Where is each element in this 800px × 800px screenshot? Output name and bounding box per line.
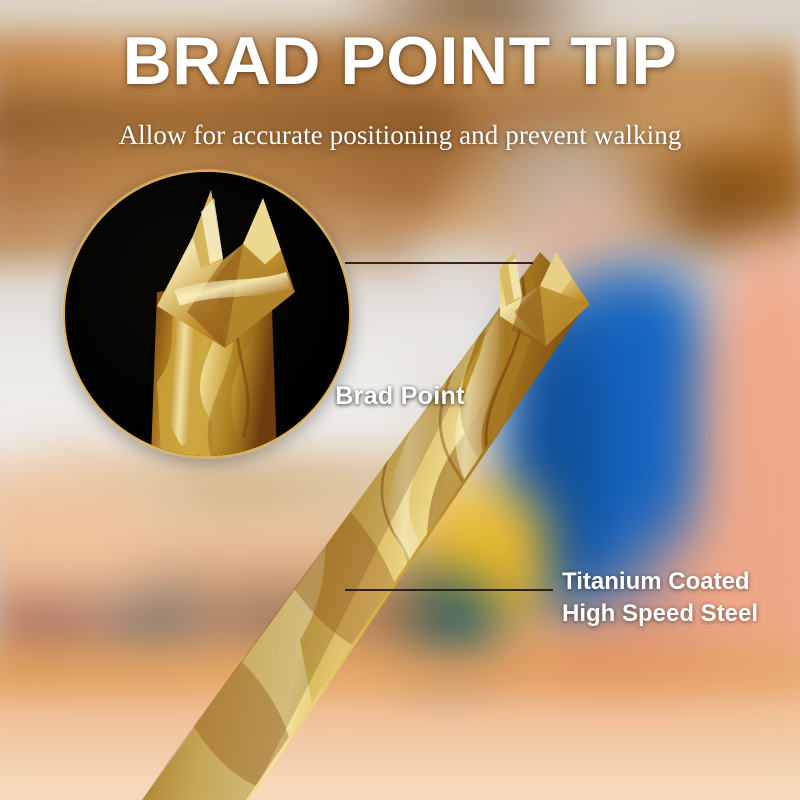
- leader-line-brad-point: [345, 262, 533, 264]
- callout-titanium-high-speed-steel: Titanium Coated High Speed Steel: [562, 566, 794, 629]
- workbench-top: [0, 648, 800, 706]
- callout-line-1: Titanium Coated: [562, 566, 794, 598]
- page-subtitle: Allow for accurate positioning and preve…: [0, 120, 800, 151]
- power-drill-highlight: [452, 498, 522, 560]
- tool-silhouette-1: [0, 586, 100, 656]
- magnifier-label-brad-point: Brad Point: [0, 382, 800, 411]
- product-marketing-image: BRAD POINT TIP Allow for accurate positi…: [0, 0, 800, 800]
- magnifier-inner: [65, 172, 349, 456]
- magnifier-inset-brad-point: [63, 170, 351, 458]
- page-title: BRAD POINT TIP: [0, 27, 800, 95]
- leader-line-titanium: [345, 589, 553, 591]
- callout-line-2: High Speed Steel: [562, 598, 794, 630]
- workbench-shadow-line: [0, 742, 800, 752]
- tool-silhouette-4: [330, 590, 440, 652]
- shelf-dark-right: [640, 168, 800, 238]
- magnified-drill-tip-illustration: [65, 172, 349, 456]
